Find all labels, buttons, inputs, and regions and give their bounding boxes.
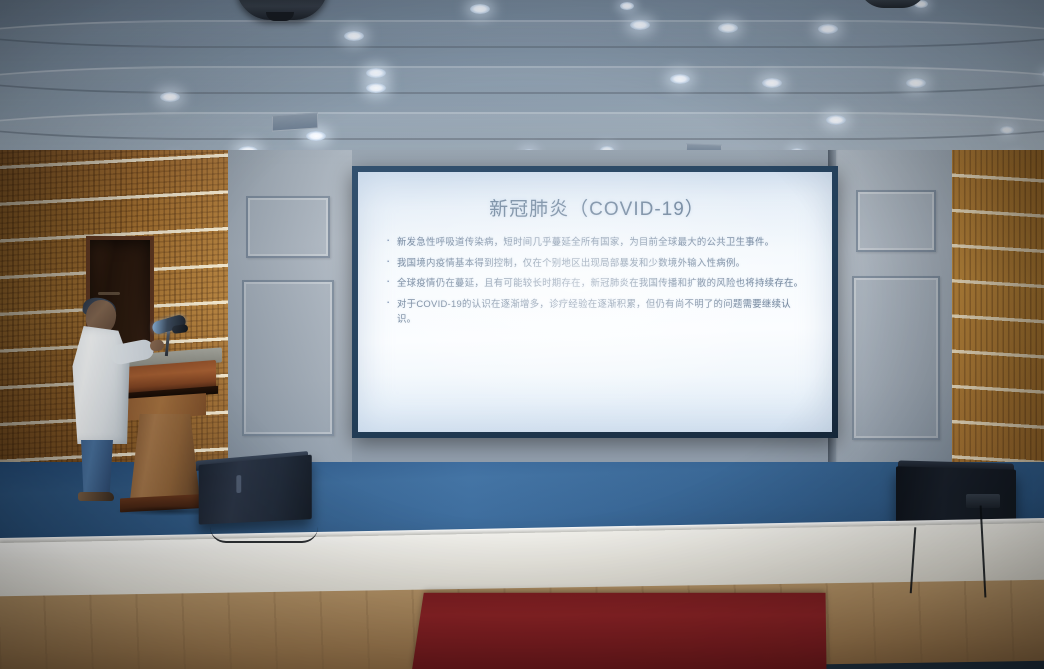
downlight-icon: [826, 115, 846, 125]
stage-monitor-speaker: [199, 455, 312, 525]
downlight-icon: [630, 20, 650, 30]
downlight-icon: [620, 2, 634, 10]
slide-title: 新冠肺炎（COVID-19）: [384, 194, 810, 221]
podium-column: [130, 414, 200, 500]
wood-panel-shading: [952, 150, 1044, 480]
ceiling: [0, 0, 1044, 175]
downlight-icon: [366, 83, 386, 93]
downlight-icon: [344, 31, 364, 41]
projection-screen: 新冠肺炎（COVID-19） 新发急性呼吸道传染病，短时间几乎蔓延全所有国家，为…: [358, 172, 832, 432]
lecture-hall-photo: 新冠肺炎（COVID-19） 新发急性呼吸道传染病，短时间几乎蔓延全所有国家，为…: [0, 0, 1044, 669]
downlight-icon: [906, 78, 926, 88]
slide-bullet: 对于COVID-19的认识在逐渐增多，诊疗经验在逐渐积累，但仍有尚不明了的问题需…: [384, 296, 810, 327]
red-carpet-runner: [412, 593, 826, 669]
downlight-icon: [366, 68, 386, 78]
projection-screen-frame: 新冠肺炎（COVID-19） 新发急性呼吸道传染病，短时间几乎蔓延全所有国家，为…: [352, 166, 838, 438]
slide-bullet-list: 新发急性呼吸道传染病，短时间几乎蔓延全所有国家，为目前全球最大的公共卫生事件。 …: [384, 234, 810, 327]
slide-bullet: 全球疫情仍在蔓延，且有可能较长时期存在，新冠肺炎在我国传播和扩散的风险也将持续存…: [384, 275, 810, 291]
downlight-icon: [160, 92, 180, 102]
downlight-icon: [718, 23, 738, 33]
wall-panel-left: [228, 150, 352, 480]
presenter-shoe: [78, 492, 114, 501]
wall-shading: [228, 150, 352, 480]
downlight-icon: [470, 4, 490, 14]
speaker-cable: [910, 527, 939, 595]
presenter: [70, 300, 140, 500]
downlight-icon: [1000, 126, 1014, 134]
downlight-icon: [306, 131, 326, 141]
presentation-slide: 新冠肺炎（COVID-19） 新发急性呼吸道传染病，短时间几乎蔓延全所有国家，为…: [358, 172, 832, 432]
downlight-icon: [762, 78, 782, 88]
slide-bullet: 新发急性呼吸道传染病，短时间几乎蔓延全所有国家，为目前全球最大的公共卫生事件。: [384, 234, 810, 250]
wall-shading: [836, 150, 956, 480]
downlight-icon: [670, 74, 690, 84]
presenter-legs: [76, 440, 118, 496]
wood-acoustic-panel-right: [952, 150, 1044, 480]
slide-bullet: 我国境内疫情基本得到控制，仅在个别地区出现局部暴发和少数境外输入性病例。: [384, 255, 810, 271]
downlight-icon: [818, 24, 838, 34]
wall-panel-right: [836, 150, 956, 480]
ceiling-air-vent: [272, 112, 318, 131]
speaker-cable: [210, 527, 318, 543]
